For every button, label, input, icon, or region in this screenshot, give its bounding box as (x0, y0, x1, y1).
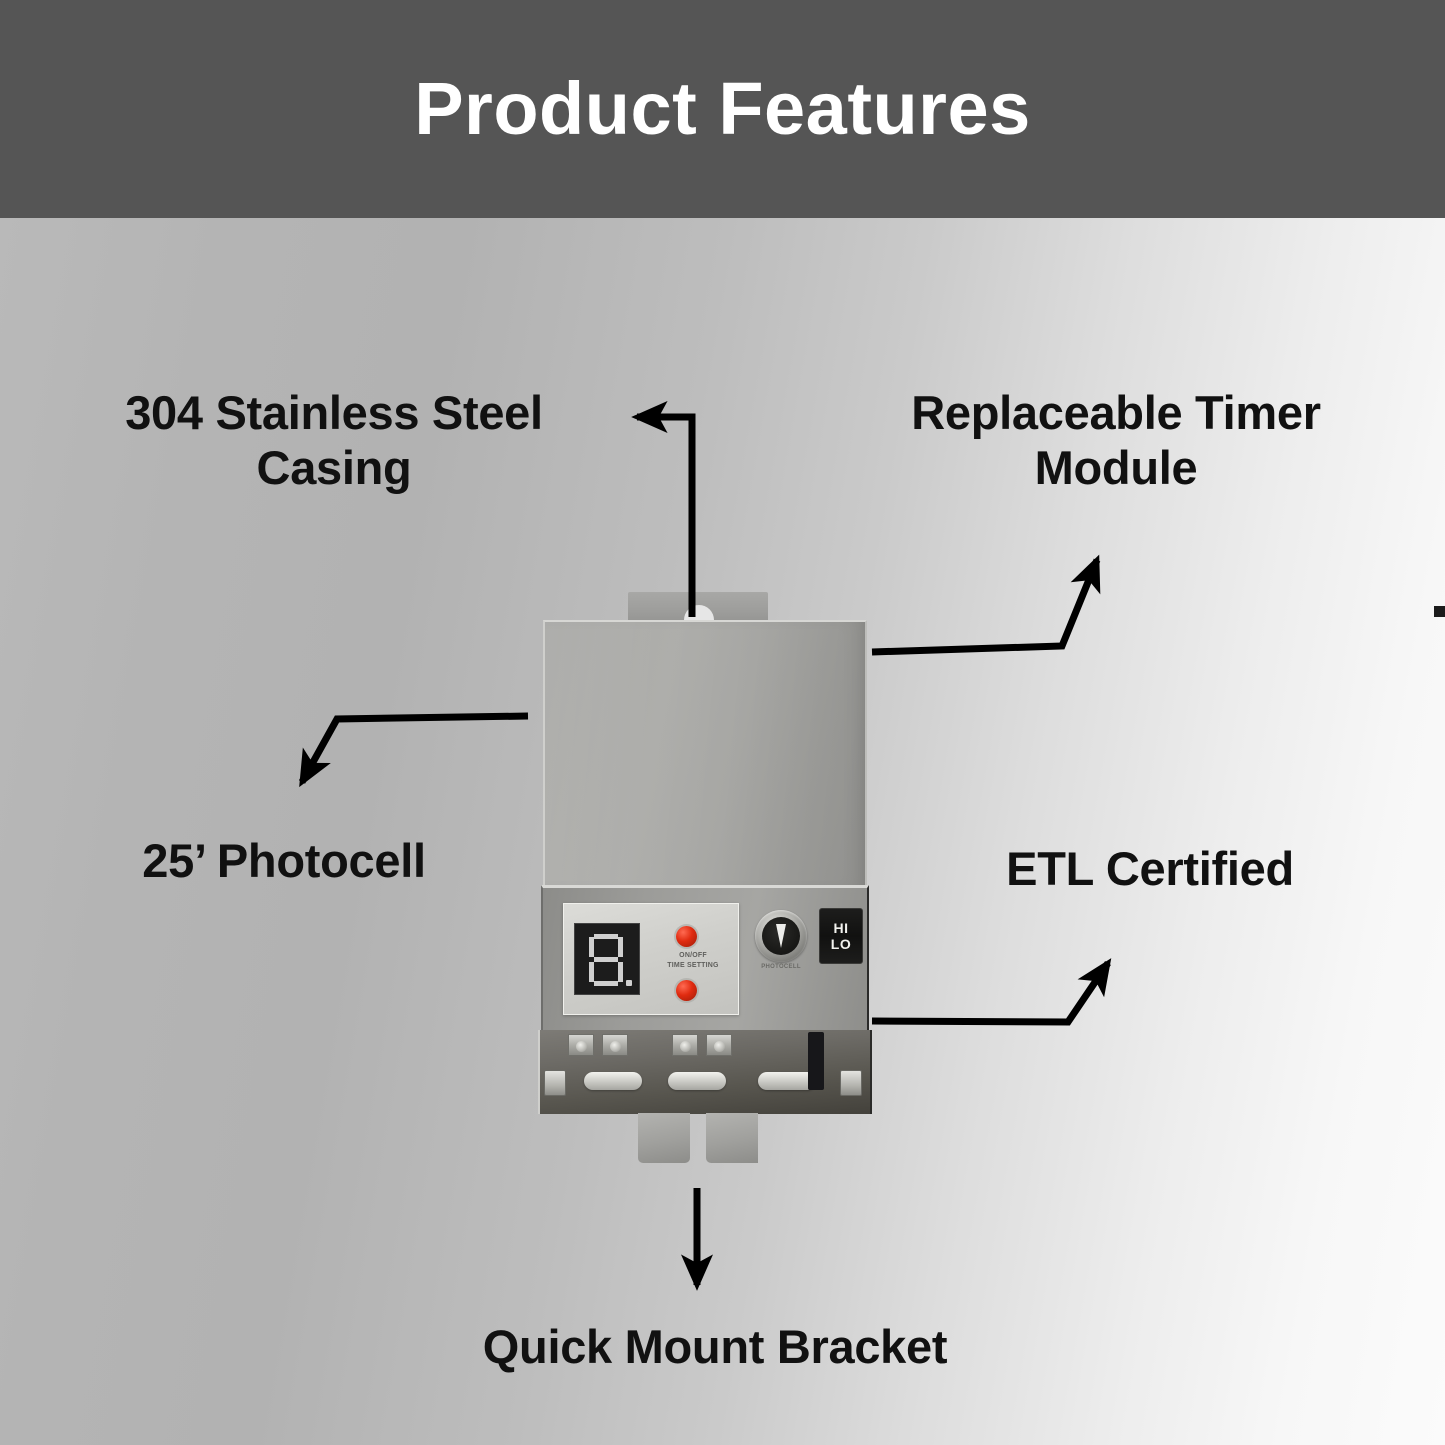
terminal-screw-icon (576, 1041, 587, 1052)
terminal-block (568, 1034, 594, 1056)
control-panel-housing: ON/OFFTIME SETTING PHOTOCELL HI LO (541, 885, 869, 1033)
wire-connector (668, 1072, 726, 1090)
hi-lo-rocker-switch[interactable]: HI LO (819, 908, 863, 964)
knob-inner-face (762, 917, 800, 955)
switch-label-lo: LO (831, 937, 851, 951)
segment-b (618, 937, 623, 957)
panel-button-legend: ON/OFFTIME SETTING (648, 951, 738, 971)
edge-crop-mark (1434, 606, 1445, 617)
callout-label-photocell: 25’ Photocell (74, 834, 494, 889)
callout-label-stainless-casing: 304 Stainless Steel Casing (74, 386, 594, 496)
black-wire (808, 1032, 824, 1090)
switch-label-hi: HI (834, 921, 849, 935)
on-off-button[interactable] (676, 926, 697, 947)
product-features-slide: Product Features 304 Stainless Steel Cas… (0, 0, 1445, 1445)
time-setting-button[interactable] (676, 980, 697, 1001)
stainless-steel-casing (543, 620, 867, 888)
segment-c (618, 962, 623, 982)
terminal-screw-icon (714, 1041, 725, 1052)
mounting-foot (706, 1113, 758, 1163)
segment-a (594, 934, 618, 939)
header-bar: Product Features (0, 0, 1445, 218)
page-title: Product Features (414, 72, 1031, 146)
seven-segment-digit (589, 934, 623, 986)
terminal-block (706, 1034, 732, 1056)
photocell-knob[interactable] (755, 910, 807, 962)
segment-f (589, 937, 594, 957)
callout-label-timer-module: Replaceable Timer Module (856, 386, 1376, 496)
terminal-screw-icon (680, 1041, 691, 1052)
legend-on-off: ON/OFF (679, 952, 707, 959)
terminal-screw-icon (610, 1041, 621, 1052)
mounting-foot (638, 1113, 690, 1163)
led-display-bezel (574, 923, 640, 995)
callout-label-etl-certified: ETL Certified (930, 842, 1370, 897)
segment-e (589, 962, 594, 982)
legend-time-setting: TIME SETTING (667, 962, 718, 969)
quick-mount-bracket (538, 1030, 872, 1114)
control-panel-face: ON/OFFTIME SETTING (563, 903, 739, 1015)
callout-label-quick-mount-bracket: Quick Mount Bracket (395, 1320, 1035, 1375)
cable-clamp (840, 1070, 862, 1096)
cable-clamp (544, 1070, 566, 1096)
knob-legend: PHOTOCELL (751, 964, 811, 970)
knob-pointer-icon (776, 924, 786, 948)
segment-g (594, 957, 618, 962)
terminal-block (602, 1034, 628, 1056)
product-unit-illustration: ON/OFFTIME SETTING PHOTOCELL HI LO (516, 585, 912, 1175)
wire-connector (584, 1072, 642, 1090)
terminal-block (672, 1034, 698, 1056)
segment-decimal-point (626, 980, 632, 986)
casing-sheen (545, 622, 865, 888)
segment-d (594, 981, 618, 986)
